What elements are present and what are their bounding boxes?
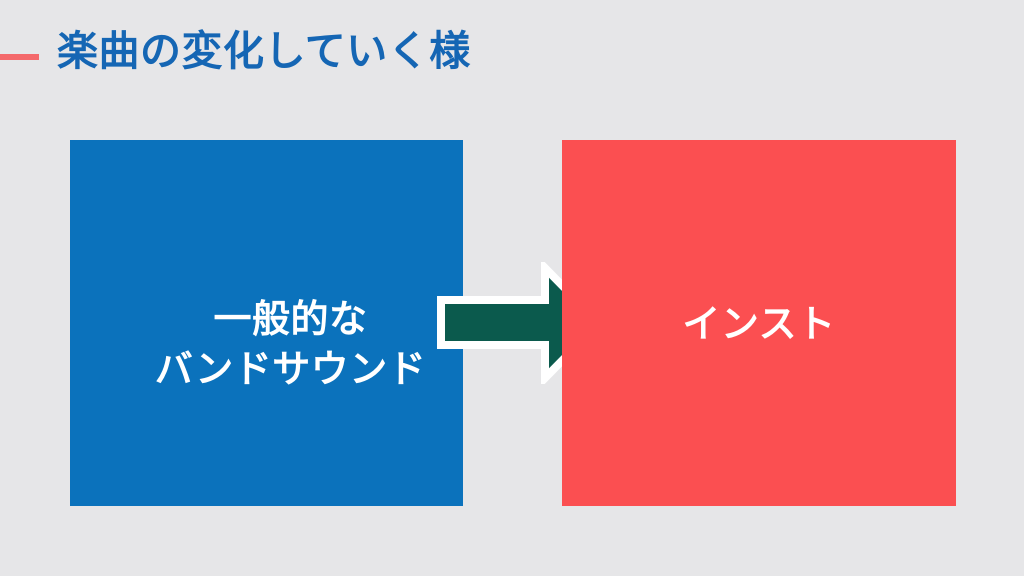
concept-box-source-label: 一般的な バンドサウンド <box>155 295 426 395</box>
concept-box-target: インスト <box>562 140 956 506</box>
title-accent-dash-icon <box>0 54 39 60</box>
concept-box-target-label: インスト <box>682 300 835 350</box>
slide-canvas: 楽曲の変化していく様 一般的な バンドサウンド インスト <box>0 0 1024 576</box>
page-title: 楽曲の変化していく様 <box>57 26 471 77</box>
concept-box-source: 一般的な バンドサウンド <box>70 140 463 506</box>
